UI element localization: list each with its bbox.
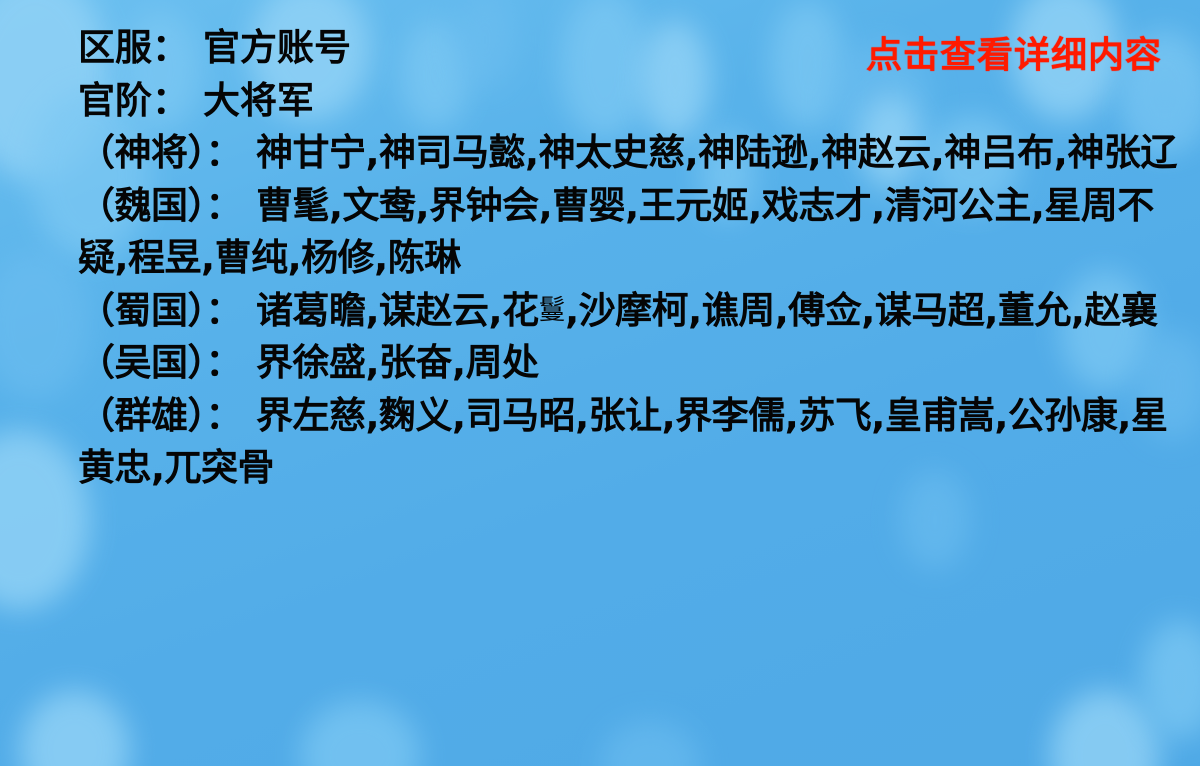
group-tag: （魏国）： [78,184,242,227]
hero-group-wu: （吴国）：界徐盛,张奋,周处 [78,337,1182,390]
group-tag: （群雄）： [78,394,242,437]
view-details-link[interactable]: 点击查看详细内容 [866,38,1162,74]
rank-line: 官阶：大将军 [78,75,1182,128]
rank-label: 官阶： [78,75,189,128]
group-tag: （神将）： [78,131,242,174]
hero-group-divine: （神将）：神甘宁,神司马懿,神太史慈,神陆逊,神赵云,神吕布,神张辽 [78,127,1182,180]
bubble-decoration [1050,690,1160,766]
rank-value: 大将军 [203,79,314,122]
server-value: 官方账号 [203,26,351,69]
bubble-decoration [20,690,130,766]
group-hero-names: 神甘宁,神司马懿,神太史慈,神陆逊,神赵云,神吕布,神张辽 [256,131,1177,174]
group-hero-names: 诸葛瞻,谋赵云,花 [256,289,539,332]
server-label: 区服： [78,22,189,75]
bubble-decoration [600,720,700,766]
group-tag: （蜀国）： [78,289,242,332]
account-detail-screen: 点击查看详细内容 区服：官方账号 官阶：大将军 （神将）：神甘宁,神司马懿,神太… [0,0,1200,766]
hero-group-shu: （蜀国）：诸葛瞻,谋赵云,花鬘,沙摩柯,谯周,傅佥,谋马超,董允,赵襄 [78,285,1182,338]
group-hero-names-continued: ,沙摩柯,谯周,傅佥,谋马超,董允,赵襄 [565,289,1157,332]
group-tag: （吴国）： [78,341,242,384]
bubble-decoration [300,700,420,766]
group-hero-names: 界徐盛,张奋,周处 [256,341,539,384]
hero-group-wei: （魏国）：曹髦,文鸯,界钟会,曹婴,王元姬,戏志才,清河公主,星周不疑,程昱,曹… [78,180,1182,285]
bubble-decoration [1140,620,1200,740]
content-area: 点击查看详细内容 区服：官方账号 官阶：大将军 （神将）：神甘宁,神司马懿,神太… [0,0,1200,495]
hero-group-warlords: （群雄）：界左慈,麴义,司马昭,张让,界李儒,苏飞,皇甫嵩,公孙康,星黄忠,兀突… [78,390,1182,495]
group-hero-name-glyph: 鬘 [539,295,566,326]
